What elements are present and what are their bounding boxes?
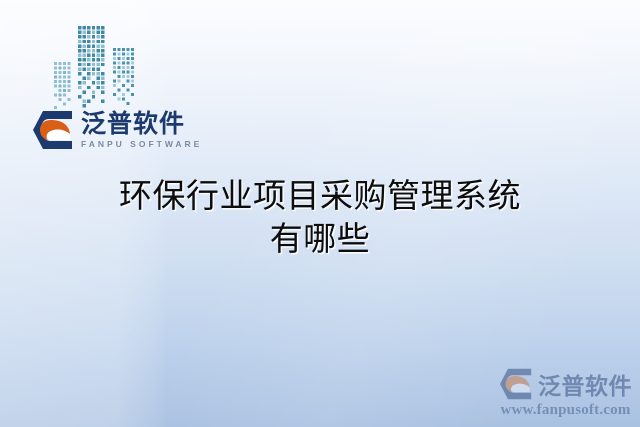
brand-name-en: FANPU SOFTWARE (81, 140, 202, 149)
promo-banner: 泛普软件 FANPU SOFTWARE 环保行业项目采购管理系统 有哪些 泛普软… (0, 0, 640, 427)
fanpu-logo-mark-watermark-icon (499, 368, 533, 400)
brand-text: 泛普软件 FANPU SOFTWARE (81, 112, 202, 149)
watermark-logo-row: 泛普软件 (499, 367, 632, 401)
brand-name-cn: 泛普软件 (81, 112, 202, 137)
pixel-city-skyline-icon (52, 18, 152, 110)
watermark-url: www.fanpusoft.com (500, 402, 630, 419)
headline-line-1: 环保行业项目采购管理系统 (0, 176, 640, 219)
brand-logo: 泛普软件 FANPU SOFTWARE (32, 110, 202, 150)
headline: 环保行业项目采购管理系统 有哪些 (0, 176, 640, 262)
watermark: 泛普软件 www.fanpusoft.com (499, 367, 632, 419)
watermark-name-cn: 泛普软件 (538, 367, 632, 401)
fanpu-logo-mark-icon (32, 110, 74, 150)
headline-line-2: 有哪些 (0, 219, 640, 262)
